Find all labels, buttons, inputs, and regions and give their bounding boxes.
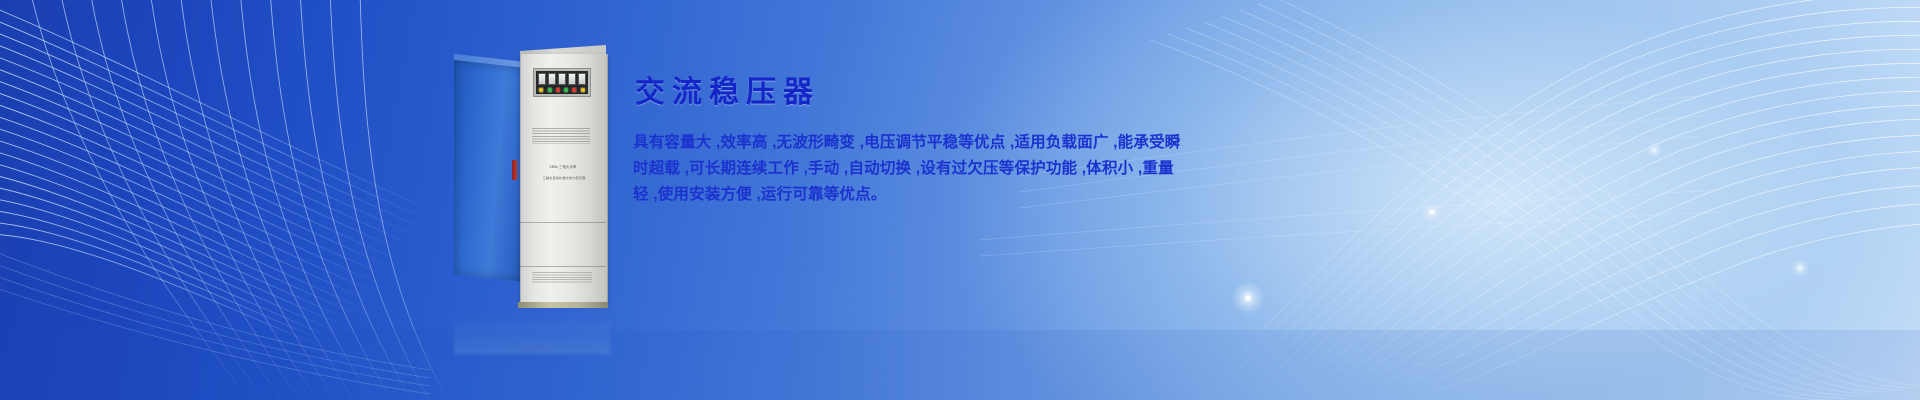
banner-text-block: 交流稳压器 具有容量大 ,效率高 ,无波形畸变 ,电压调节平稳等优点 ,适用负载…	[633, 78, 1173, 208]
indicator-lights	[538, 85, 586, 94]
cabinet-model-label: SBW-三相大功率	[533, 164, 593, 169]
banner-body-line-3: 轻 ,使用安装方便 ,运行可靠等优点。	[633, 182, 1173, 208]
indicator-light	[563, 86, 570, 94]
product-banner: SBW-三相大功率 三相全自动补偿式电力稳压器 交流稳压器 具有容量大 ,效率高…	[0, 0, 1920, 400]
cabinet-upper-vents	[532, 128, 590, 144]
meter-gauge	[578, 73, 586, 85]
cabinet-seam	[520, 222, 606, 223]
product-reflection	[454, 308, 610, 354]
cabinet-door-handle	[512, 160, 517, 180]
cabinet-lower-vents	[532, 272, 592, 284]
cabinet-description-label: 三相全自动补偿式电力稳压器	[530, 175, 598, 180]
banner-body-line-1: 具有容量大 ,效率高 ,无波形畸变 ,电压调节平稳等优点 ,适用负载面广 ,能承…	[633, 130, 1173, 156]
meter-gauges	[538, 73, 586, 85]
control-panel	[533, 68, 591, 97]
meter-gauge	[568, 73, 576, 85]
cabinet-seam	[520, 266, 606, 267]
meter-gauge	[538, 73, 546, 85]
meter-gauge	[558, 73, 566, 85]
indicator-light	[579, 86, 586, 94]
banner-headline: 交流稳压器	[635, 78, 1173, 108]
indicator-light	[555, 86, 562, 94]
product-image-voltage-stabilizer: SBW-三相大功率 三相全自动补偿式电力稳压器	[432, 40, 628, 310]
banner-body-line-2: 时超载 ,可长期连续工作 ,手动 ,自动切换 ,设有过欠压等保护功能 ,体积小 …	[633, 156, 1173, 182]
indicator-light	[546, 86, 553, 94]
indicator-light	[571, 86, 578, 94]
meter-gauge	[548, 73, 556, 85]
indicator-light	[538, 86, 545, 94]
